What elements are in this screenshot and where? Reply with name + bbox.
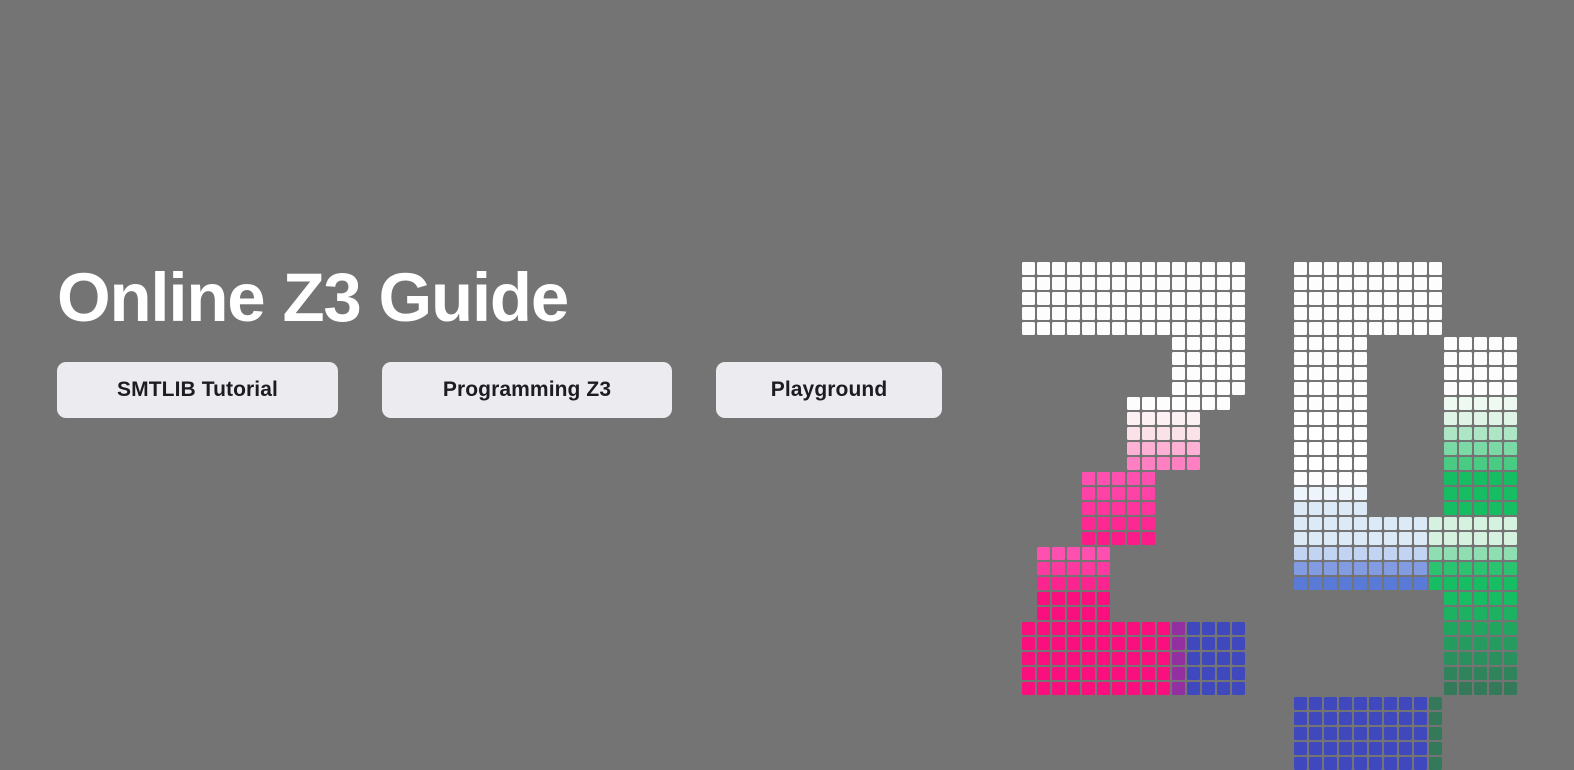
logo-pixel bbox=[1112, 472, 1125, 485]
smtlib-tutorial-button[interactable]: SMTLIB Tutorial bbox=[57, 362, 338, 418]
logo-pixel bbox=[1112, 292, 1125, 305]
logo-pixel bbox=[1354, 277, 1367, 290]
logo-pixel bbox=[1127, 667, 1140, 680]
logo-pixel bbox=[1414, 292, 1427, 305]
logo-pixel bbox=[1309, 337, 1322, 350]
logo-pixel bbox=[1324, 487, 1337, 500]
logo-pixel bbox=[1217, 307, 1230, 320]
logo-pixel bbox=[1097, 502, 1110, 515]
logo-pixel bbox=[1399, 322, 1412, 335]
logo-pixel bbox=[1459, 547, 1472, 560]
logo-pixel bbox=[1112, 322, 1125, 335]
logo-pixel bbox=[1294, 742, 1307, 755]
logo-pixel bbox=[1504, 367, 1517, 380]
logo-pixel bbox=[1294, 727, 1307, 740]
logo-pixel bbox=[1444, 547, 1457, 560]
logo-pixel bbox=[1309, 292, 1322, 305]
logo-pixel bbox=[1309, 727, 1322, 740]
logo-pixel bbox=[1489, 637, 1502, 650]
logo-pixel bbox=[1399, 277, 1412, 290]
logo-pixel bbox=[1232, 667, 1245, 680]
logo-pixel bbox=[1324, 742, 1337, 755]
logo-pixel bbox=[1324, 757, 1337, 770]
logo-pixel bbox=[1324, 577, 1337, 590]
logo-pixel bbox=[1294, 307, 1307, 320]
logo-pixel bbox=[1459, 502, 1472, 515]
logo-pixel bbox=[1354, 307, 1367, 320]
logo-pixel bbox=[1489, 352, 1502, 365]
logo-pixel bbox=[1022, 277, 1035, 290]
logo-pixel bbox=[1294, 412, 1307, 425]
logo-pixel bbox=[1232, 682, 1245, 695]
logo-pixel bbox=[1142, 322, 1155, 335]
logo-pixel bbox=[1142, 442, 1155, 455]
logo-pixel bbox=[1172, 652, 1185, 665]
logo-pixel bbox=[1504, 592, 1517, 605]
logo-pixel bbox=[1399, 517, 1412, 530]
logo-pixel bbox=[1037, 592, 1050, 605]
logo-pixel bbox=[1354, 562, 1367, 575]
logo-pixel bbox=[1082, 577, 1095, 590]
logo-pixel bbox=[1052, 652, 1065, 665]
logo-pixel bbox=[1339, 517, 1352, 530]
logo-pixel bbox=[1052, 322, 1065, 335]
logo-pixel bbox=[1142, 262, 1155, 275]
logo-pixel bbox=[1309, 367, 1322, 380]
logo-pixel bbox=[1112, 637, 1125, 650]
logo-pixel bbox=[1354, 472, 1367, 485]
logo-pixel bbox=[1097, 622, 1110, 635]
logo-pixel bbox=[1172, 337, 1185, 350]
logo-pixel bbox=[1067, 622, 1080, 635]
logo-pixel bbox=[1157, 262, 1170, 275]
logo-pixel bbox=[1399, 562, 1412, 575]
logo-pixel bbox=[1354, 427, 1367, 440]
logo-pixel bbox=[1157, 277, 1170, 290]
logo-pixel bbox=[1339, 577, 1352, 590]
logo-pixel bbox=[1354, 262, 1367, 275]
logo-pixel bbox=[1294, 352, 1307, 365]
logo-pixel bbox=[1232, 262, 1245, 275]
logo-pixel bbox=[1444, 337, 1457, 350]
logo-pixel bbox=[1474, 397, 1487, 410]
logo-pixel bbox=[1294, 547, 1307, 560]
logo-pixel bbox=[1504, 682, 1517, 695]
logo-pixel bbox=[1142, 622, 1155, 635]
logo-pixel bbox=[1022, 262, 1035, 275]
logo-pixel bbox=[1339, 397, 1352, 410]
logo-pixel bbox=[1112, 532, 1125, 545]
logo-pixel bbox=[1309, 262, 1322, 275]
logo-pixel bbox=[1294, 337, 1307, 350]
logo-pixel bbox=[1489, 532, 1502, 545]
logo-pixel bbox=[1187, 397, 1200, 410]
logo-pixel bbox=[1172, 412, 1185, 425]
logo-pixel bbox=[1157, 412, 1170, 425]
logo-pixel bbox=[1217, 292, 1230, 305]
logo-pixel bbox=[1444, 427, 1457, 440]
logo-pixel bbox=[1187, 457, 1200, 470]
logo-pixel bbox=[1097, 277, 1110, 290]
logo-pixel bbox=[1324, 712, 1337, 725]
logo-pixel bbox=[1414, 532, 1427, 545]
logo-pixel bbox=[1022, 322, 1035, 335]
logo-pixel bbox=[1324, 502, 1337, 515]
logo-pixel bbox=[1414, 547, 1427, 560]
logo-pixel bbox=[1504, 397, 1517, 410]
logo-pixel bbox=[1217, 622, 1230, 635]
logo-pixel bbox=[1037, 277, 1050, 290]
logo-pixel bbox=[1157, 622, 1170, 635]
logo-pixel bbox=[1202, 262, 1215, 275]
logo-pixel bbox=[1339, 262, 1352, 275]
logo-pixel bbox=[1504, 532, 1517, 545]
logo-pixel bbox=[1309, 577, 1322, 590]
logo-pixel bbox=[1187, 412, 1200, 425]
logo-pixel bbox=[1324, 562, 1337, 575]
logo-pixel bbox=[1444, 472, 1457, 485]
logo-pixel bbox=[1157, 397, 1170, 410]
logo-pixel bbox=[1217, 262, 1230, 275]
logo-pixel bbox=[1399, 292, 1412, 305]
logo-pixel bbox=[1187, 382, 1200, 395]
logo-pixel bbox=[1112, 262, 1125, 275]
logo-pixel bbox=[1339, 307, 1352, 320]
logo-pixel bbox=[1474, 562, 1487, 575]
logo-pixel bbox=[1232, 352, 1245, 365]
logo-pixel bbox=[1187, 337, 1200, 350]
logo-pixel bbox=[1309, 742, 1322, 755]
logo-pixel bbox=[1384, 757, 1397, 770]
logo-pixel bbox=[1142, 682, 1155, 695]
logo-pixel bbox=[1504, 382, 1517, 395]
logo-pixel bbox=[1474, 637, 1487, 650]
logo-pixel bbox=[1052, 667, 1065, 680]
logo-pixel bbox=[1097, 577, 1110, 590]
logo-pixel bbox=[1474, 442, 1487, 455]
logo-pixel bbox=[1294, 367, 1307, 380]
logo-pixel bbox=[1354, 487, 1367, 500]
logo-pixel bbox=[1187, 292, 1200, 305]
logo-pixel bbox=[1294, 322, 1307, 335]
logo-pixel bbox=[1414, 712, 1427, 725]
logo-pixel bbox=[1474, 367, 1487, 380]
logo-pixel bbox=[1384, 517, 1397, 530]
logo-pixel bbox=[1202, 637, 1215, 650]
logo-pixel bbox=[1172, 682, 1185, 695]
logo-pixel bbox=[1354, 352, 1367, 365]
logo-pixel bbox=[1354, 577, 1367, 590]
logo-pixel bbox=[1187, 442, 1200, 455]
logo-pixel bbox=[1142, 652, 1155, 665]
logo-pixel bbox=[1489, 442, 1502, 455]
logo-pixel bbox=[1324, 412, 1337, 425]
logo-pixel bbox=[1489, 397, 1502, 410]
logo-pixel bbox=[1037, 322, 1050, 335]
logo-pixel bbox=[1294, 532, 1307, 545]
logo-pixel bbox=[1172, 292, 1185, 305]
logo-pixel bbox=[1022, 307, 1035, 320]
logo-pixel bbox=[1339, 712, 1352, 725]
logo-pixel bbox=[1399, 532, 1412, 545]
logo-pixel bbox=[1157, 292, 1170, 305]
logo-pixel bbox=[1232, 382, 1245, 395]
logo-pixel bbox=[1309, 442, 1322, 455]
logo-pixel bbox=[1474, 682, 1487, 695]
logo-pixel bbox=[1474, 487, 1487, 500]
logo-pixel bbox=[1294, 457, 1307, 470]
logo-pixel bbox=[1504, 412, 1517, 425]
logo-pixel bbox=[1459, 682, 1472, 695]
logo-pixel bbox=[1339, 757, 1352, 770]
logo-pixel bbox=[1082, 682, 1095, 695]
logo-pixel bbox=[1172, 322, 1185, 335]
logo-pixel bbox=[1127, 322, 1140, 335]
logo-pixel bbox=[1489, 487, 1502, 500]
logo-pixel bbox=[1489, 337, 1502, 350]
logo-pixel bbox=[1324, 517, 1337, 530]
logo-pixel bbox=[1097, 292, 1110, 305]
logo-pixel bbox=[1444, 532, 1457, 545]
logo-pixel bbox=[1037, 667, 1050, 680]
logo-pixel bbox=[1489, 562, 1502, 575]
logo-pixel bbox=[1037, 547, 1050, 560]
logo-pixel bbox=[1294, 562, 1307, 575]
logo-pixel bbox=[1187, 277, 1200, 290]
logo-pixel bbox=[1082, 637, 1095, 650]
z3-pixel-logo bbox=[1022, 262, 1522, 582]
logo-pixel bbox=[1474, 457, 1487, 470]
logo-pixel bbox=[1232, 637, 1245, 650]
logo-pixel bbox=[1187, 307, 1200, 320]
logo-pixel bbox=[1354, 292, 1367, 305]
logo-pixel bbox=[1459, 367, 1472, 380]
logo-pixel bbox=[1459, 562, 1472, 575]
logo-pixel bbox=[1097, 487, 1110, 500]
logo-pixel bbox=[1082, 517, 1095, 530]
logo-pixel bbox=[1459, 652, 1472, 665]
logo-pixel bbox=[1504, 502, 1517, 515]
logo-pixel bbox=[1022, 622, 1035, 635]
logo-pixel bbox=[1324, 352, 1337, 365]
logo-pixel bbox=[1339, 742, 1352, 755]
logo-pixel bbox=[1459, 472, 1472, 485]
logo-pixel bbox=[1052, 577, 1065, 590]
logo-pixel bbox=[1082, 277, 1095, 290]
logo-pixel bbox=[1309, 322, 1322, 335]
logo-pixel bbox=[1429, 727, 1442, 740]
logo-pixel bbox=[1037, 622, 1050, 635]
logo-pixel bbox=[1217, 337, 1230, 350]
logo-pixel bbox=[1082, 667, 1095, 680]
logo-pixel bbox=[1459, 667, 1472, 680]
logo-pixel bbox=[1157, 322, 1170, 335]
logo-pixel bbox=[1052, 637, 1065, 650]
logo-pixel bbox=[1217, 367, 1230, 380]
playground-button[interactable]: Playground bbox=[716, 362, 942, 418]
logo-pixel bbox=[1187, 352, 1200, 365]
logo-pixel bbox=[1202, 682, 1215, 695]
logo-pixel bbox=[1444, 367, 1457, 380]
logo-pixel bbox=[1354, 382, 1367, 395]
logo-pixel bbox=[1384, 577, 1397, 590]
logo-pixel bbox=[1097, 517, 1110, 530]
logo-pixel bbox=[1097, 667, 1110, 680]
logo-pixel bbox=[1172, 307, 1185, 320]
logo-pixel bbox=[1294, 472, 1307, 485]
logo-pixel bbox=[1022, 667, 1035, 680]
logo-pixel bbox=[1172, 352, 1185, 365]
logo-pixel bbox=[1474, 652, 1487, 665]
logo-pixel bbox=[1459, 427, 1472, 440]
logo-pixel bbox=[1444, 517, 1457, 530]
logo-pixel bbox=[1157, 682, 1170, 695]
logo-pixel bbox=[1309, 427, 1322, 440]
logo-pixel bbox=[1459, 457, 1472, 470]
logo-pixel bbox=[1127, 457, 1140, 470]
logo-pixel bbox=[1142, 412, 1155, 425]
logo-pixel bbox=[1369, 322, 1382, 335]
logo-pixel bbox=[1369, 532, 1382, 545]
logo-pixel bbox=[1082, 592, 1095, 605]
logo-pixel bbox=[1339, 277, 1352, 290]
logo-pixel bbox=[1097, 682, 1110, 695]
logo-pixel bbox=[1142, 637, 1155, 650]
logo-pixel bbox=[1309, 502, 1322, 515]
logo-pixel bbox=[1202, 292, 1215, 305]
logo-pixel bbox=[1339, 367, 1352, 380]
logo-pixel bbox=[1052, 592, 1065, 605]
logo-pixel bbox=[1097, 592, 1110, 605]
logo-pixel bbox=[1429, 262, 1442, 275]
logo-pixel bbox=[1112, 277, 1125, 290]
logo-pixel bbox=[1444, 622, 1457, 635]
logo-pixel bbox=[1232, 277, 1245, 290]
logo-pixel bbox=[1082, 547, 1095, 560]
logo-pixel bbox=[1444, 667, 1457, 680]
logo-pixel bbox=[1399, 757, 1412, 770]
logo-pixel bbox=[1052, 562, 1065, 575]
logo-pixel bbox=[1504, 652, 1517, 665]
logo-pixel bbox=[1444, 382, 1457, 395]
logo-pixel bbox=[1187, 667, 1200, 680]
logo-pixel bbox=[1052, 682, 1065, 695]
logo-pixel bbox=[1082, 322, 1095, 335]
logo-pixel bbox=[1202, 307, 1215, 320]
logo-pixel bbox=[1037, 562, 1050, 575]
logo-pixel bbox=[1369, 277, 1382, 290]
logo-pixel bbox=[1127, 427, 1140, 440]
programming-z3-button[interactable]: Programming Z3 bbox=[382, 362, 672, 418]
logo-pixel bbox=[1459, 397, 1472, 410]
logo-pixel bbox=[1172, 397, 1185, 410]
logo-pixel bbox=[1202, 652, 1215, 665]
logo-pixel bbox=[1369, 562, 1382, 575]
logo-pixel bbox=[1142, 487, 1155, 500]
logo-pixel bbox=[1309, 472, 1322, 485]
logo-pixel bbox=[1097, 562, 1110, 575]
logo-pixel bbox=[1217, 652, 1230, 665]
logo-pixel bbox=[1474, 412, 1487, 425]
logo-pixel bbox=[1324, 292, 1337, 305]
logo-pixel bbox=[1232, 367, 1245, 380]
logo-pixel bbox=[1339, 292, 1352, 305]
logo-pixel bbox=[1339, 427, 1352, 440]
logo-pixel bbox=[1294, 712, 1307, 725]
logo-pixel bbox=[1202, 397, 1215, 410]
logo-pixel bbox=[1384, 712, 1397, 725]
logo-pixel bbox=[1157, 442, 1170, 455]
logo-pixel bbox=[1142, 667, 1155, 680]
logo-pixel bbox=[1127, 472, 1140, 485]
logo-pixel bbox=[1309, 382, 1322, 395]
logo-pixel bbox=[1384, 322, 1397, 335]
logo-pixel bbox=[1309, 352, 1322, 365]
logo-pixel bbox=[1354, 517, 1367, 530]
logo-pixel bbox=[1429, 307, 1442, 320]
logo-pixel bbox=[1414, 562, 1427, 575]
logo-pixel bbox=[1187, 637, 1200, 650]
logo-pixel bbox=[1294, 487, 1307, 500]
logo-pixel bbox=[1082, 652, 1095, 665]
logo-pixel bbox=[1232, 652, 1245, 665]
logo-pixel bbox=[1067, 577, 1080, 590]
logo-pixel bbox=[1414, 742, 1427, 755]
logo-pixel bbox=[1339, 697, 1352, 710]
logo-pixel bbox=[1157, 427, 1170, 440]
logo-pixel bbox=[1202, 337, 1215, 350]
logo-pixel bbox=[1429, 577, 1442, 590]
logo-pixel bbox=[1022, 292, 1035, 305]
logo-pixel bbox=[1232, 307, 1245, 320]
logo-pixel bbox=[1354, 337, 1367, 350]
logo-pixel bbox=[1339, 337, 1352, 350]
logo-pixel bbox=[1489, 367, 1502, 380]
logo-pixel bbox=[1052, 292, 1065, 305]
logo-pixel bbox=[1309, 307, 1322, 320]
logo-pixel bbox=[1339, 487, 1352, 500]
logo-pixel bbox=[1294, 757, 1307, 770]
logo-pixel bbox=[1504, 562, 1517, 575]
logo-pixel bbox=[1082, 532, 1095, 545]
logo-pixel bbox=[1504, 442, 1517, 455]
logo-pixel bbox=[1399, 307, 1412, 320]
logo-pixel bbox=[1504, 622, 1517, 635]
logo-pixel bbox=[1294, 427, 1307, 440]
hero-section: Online Z3 Guide SMTLIB Tutorial Programm… bbox=[0, 0, 1574, 742]
logo-pixel bbox=[1399, 712, 1412, 725]
logo-pixel bbox=[1504, 517, 1517, 530]
logo-pixel bbox=[1142, 307, 1155, 320]
logo-pixel bbox=[1444, 682, 1457, 695]
logo-pixel bbox=[1489, 412, 1502, 425]
logo-pixel bbox=[1202, 352, 1215, 365]
logo-pixel bbox=[1429, 547, 1442, 560]
logo-pixel bbox=[1324, 727, 1337, 740]
logo-pixel bbox=[1459, 517, 1472, 530]
logo-pixel bbox=[1474, 592, 1487, 605]
logo-pixel bbox=[1489, 502, 1502, 515]
logo-pixel bbox=[1127, 517, 1140, 530]
logo-pixel bbox=[1384, 277, 1397, 290]
logo-pixel bbox=[1217, 637, 1230, 650]
logo-pixel bbox=[1142, 292, 1155, 305]
logo-pixel bbox=[1399, 262, 1412, 275]
logo-pixel bbox=[1217, 382, 1230, 395]
logo-pixel bbox=[1354, 367, 1367, 380]
logo-pixel bbox=[1414, 727, 1427, 740]
logo-pixel bbox=[1052, 547, 1065, 560]
